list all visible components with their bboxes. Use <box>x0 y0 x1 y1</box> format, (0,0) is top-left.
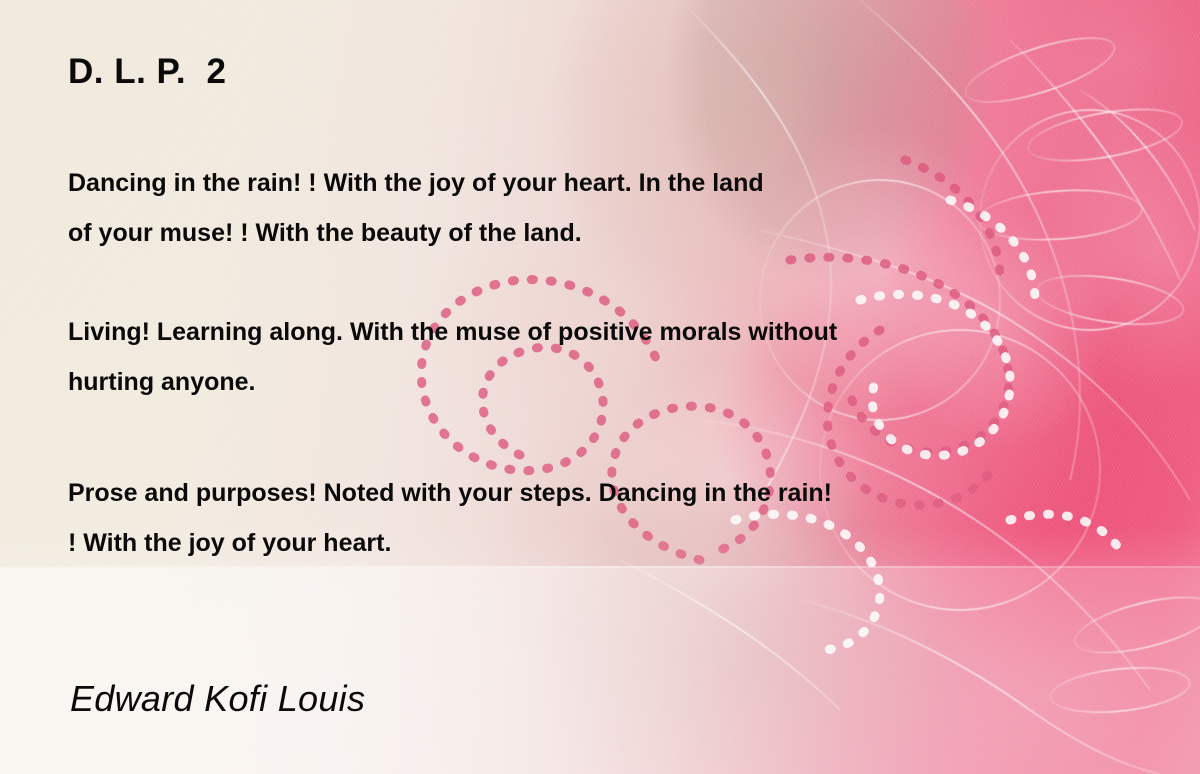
poem-stanza: Dancing in the rain! ! With the joy of y… <box>68 158 764 258</box>
poem-title: D. L. P. 2 <box>68 52 227 92</box>
poem-line: of your muse! ! With the beauty of the l… <box>68 208 764 258</box>
poem-stanza: Living! Learning along. With the muse of… <box>68 307 837 407</box>
background-lower-band <box>0 568 1200 774</box>
poem-line: ! With the joy of your heart. <box>68 518 832 568</box>
poem-line: Dancing in the rain! ! With the joy of y… <box>68 158 764 208</box>
poem-line: Prose and purposes! Noted with your step… <box>68 468 832 518</box>
poem-line: Living! Learning along. With the muse of… <box>68 307 837 357</box>
poem-author-name: Edward Kofi Louis <box>70 678 365 720</box>
poem-image-card: D. L. P. 2 Dancing in the rain! ! With t… <box>0 0 1200 774</box>
poem-line: hurting anyone. <box>68 357 837 407</box>
poem-stanza: Prose and purposes! Noted with your step… <box>68 468 832 568</box>
